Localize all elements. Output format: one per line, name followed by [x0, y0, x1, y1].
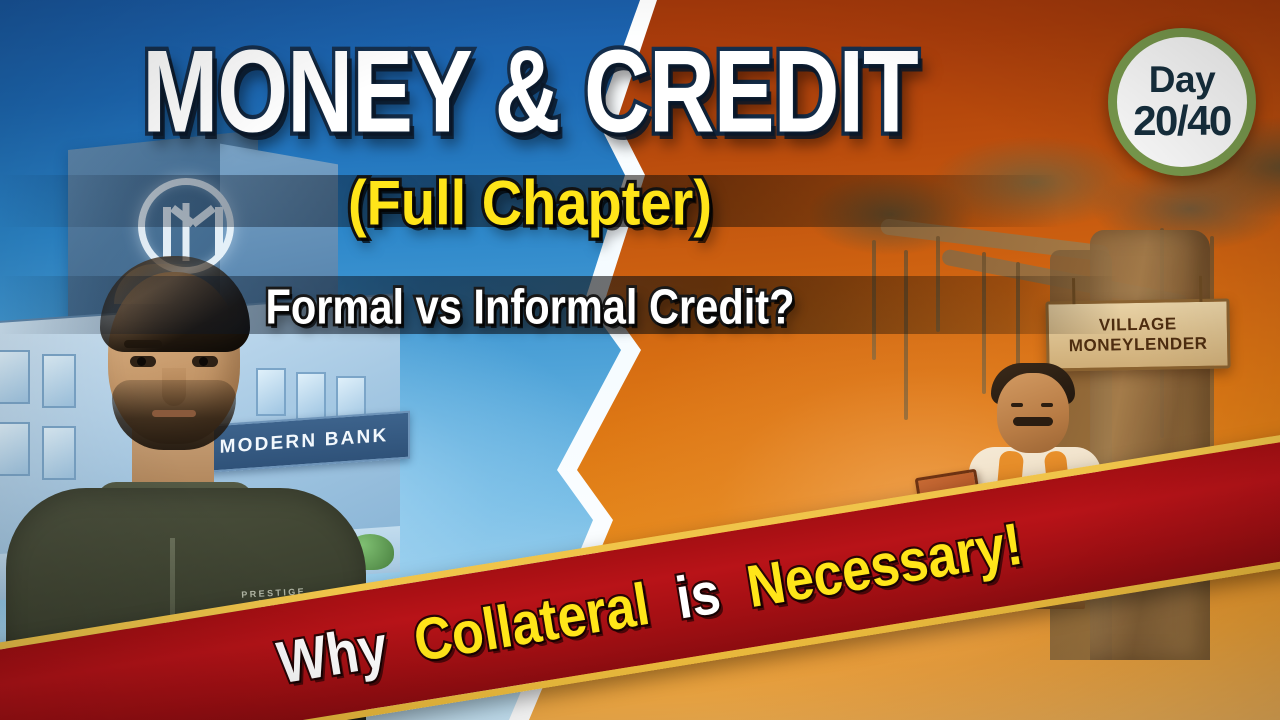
moneylender-eye	[1041, 403, 1053, 407]
presenter-eye	[130, 356, 156, 367]
day-badge-label: Day	[1149, 62, 1215, 98]
ribbon-word-why: Why	[273, 614, 392, 697]
moneylender-moustache	[1013, 417, 1053, 426]
ribbon-word-necessary: Necessary!	[742, 511, 1027, 621]
sign-rope	[1199, 276, 1202, 302]
moneylender-head	[997, 373, 1069, 453]
ribbon-word-collateral: Collateral	[409, 572, 654, 675]
village-sign-line2: MONEYLENDER	[1069, 334, 1208, 356]
presenter-eye	[192, 356, 218, 367]
day-badge-value: 20/40	[1133, 100, 1231, 142]
ribbon-word-is: is	[672, 560, 725, 632]
moneylender-eye	[1011, 403, 1023, 407]
tagline-formal-vs-informal: Formal vs Informal Credit?	[5, 283, 1054, 332]
presenter-lips	[152, 410, 196, 417]
subtitle-full-chapter: (Full Chapter)	[0, 172, 1060, 235]
main-title: MONEY & CREDIT	[27, 34, 1034, 151]
day-counter-badge: Day 20/40	[1108, 28, 1256, 176]
youtube-thumbnail: MODERN BANK VILLAGE MONEYLENDER	[0, 0, 1280, 720]
